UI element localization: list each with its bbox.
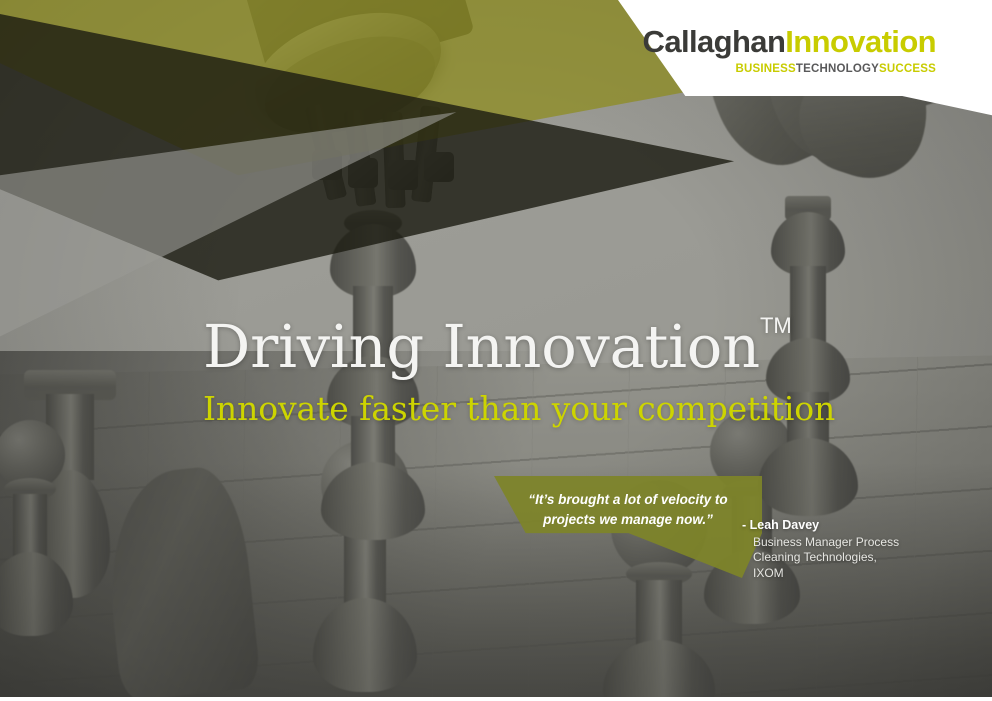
robot-knuckle-4	[424, 152, 454, 182]
robot-knuckle-2	[348, 158, 378, 188]
attribution-name: - Leah Davey	[742, 518, 912, 534]
chess-piece-pawn-far-left	[0, 420, 76, 640]
tagline-business: BUSINESS	[735, 63, 795, 75]
attribution-role-line-1: Business Manager Process	[753, 535, 912, 551]
page-title-text: Driving Innovation	[203, 312, 760, 381]
attribution-role-line-3: IXOM	[753, 566, 912, 582]
logo-wordmark: CallaghanInnovation	[643, 26, 936, 57]
tagline-technology: TECHNOLOGY	[796, 63, 879, 75]
callaghan-innovation-logo: CallaghanInnovation BUSINESSTECHNOLOGYSU…	[643, 26, 936, 76]
trademark-symbol: TM	[760, 313, 792, 338]
quote-text: “It’s brought a lot of velocity to proje…	[510, 490, 746, 529]
logo-word-innovation: Innovation	[785, 24, 936, 59]
headline-block: Driving InnovationTM Innovate faster tha…	[203, 315, 835, 425]
bottom-white-strip	[0, 697, 992, 701]
logo-word-callaghan: Callaghan	[643, 24, 786, 59]
slide-canvas: CallaghanInnovation BUSINESSTECHNOLOGYSU…	[0, 0, 992, 701]
robot-knuckle-3	[388, 160, 418, 190]
quote-attribution: - Leah Davey Business Manager Process Cl…	[742, 518, 912, 582]
page-subtitle: Innovate faster than your competition	[203, 392, 835, 425]
page-title: Driving InnovationTM	[203, 315, 835, 376]
tagline-success: SUCCESS	[879, 63, 936, 75]
robot-knuckle-1	[312, 150, 342, 180]
quote-callout: “It’s brought a lot of velocity to proje…	[484, 476, 762, 578]
attribution-role-line-2: Cleaning Technologies,	[753, 550, 912, 566]
logo-tagline: BUSINESSTECHNOLOGYSUCCESS	[643, 64, 936, 76]
